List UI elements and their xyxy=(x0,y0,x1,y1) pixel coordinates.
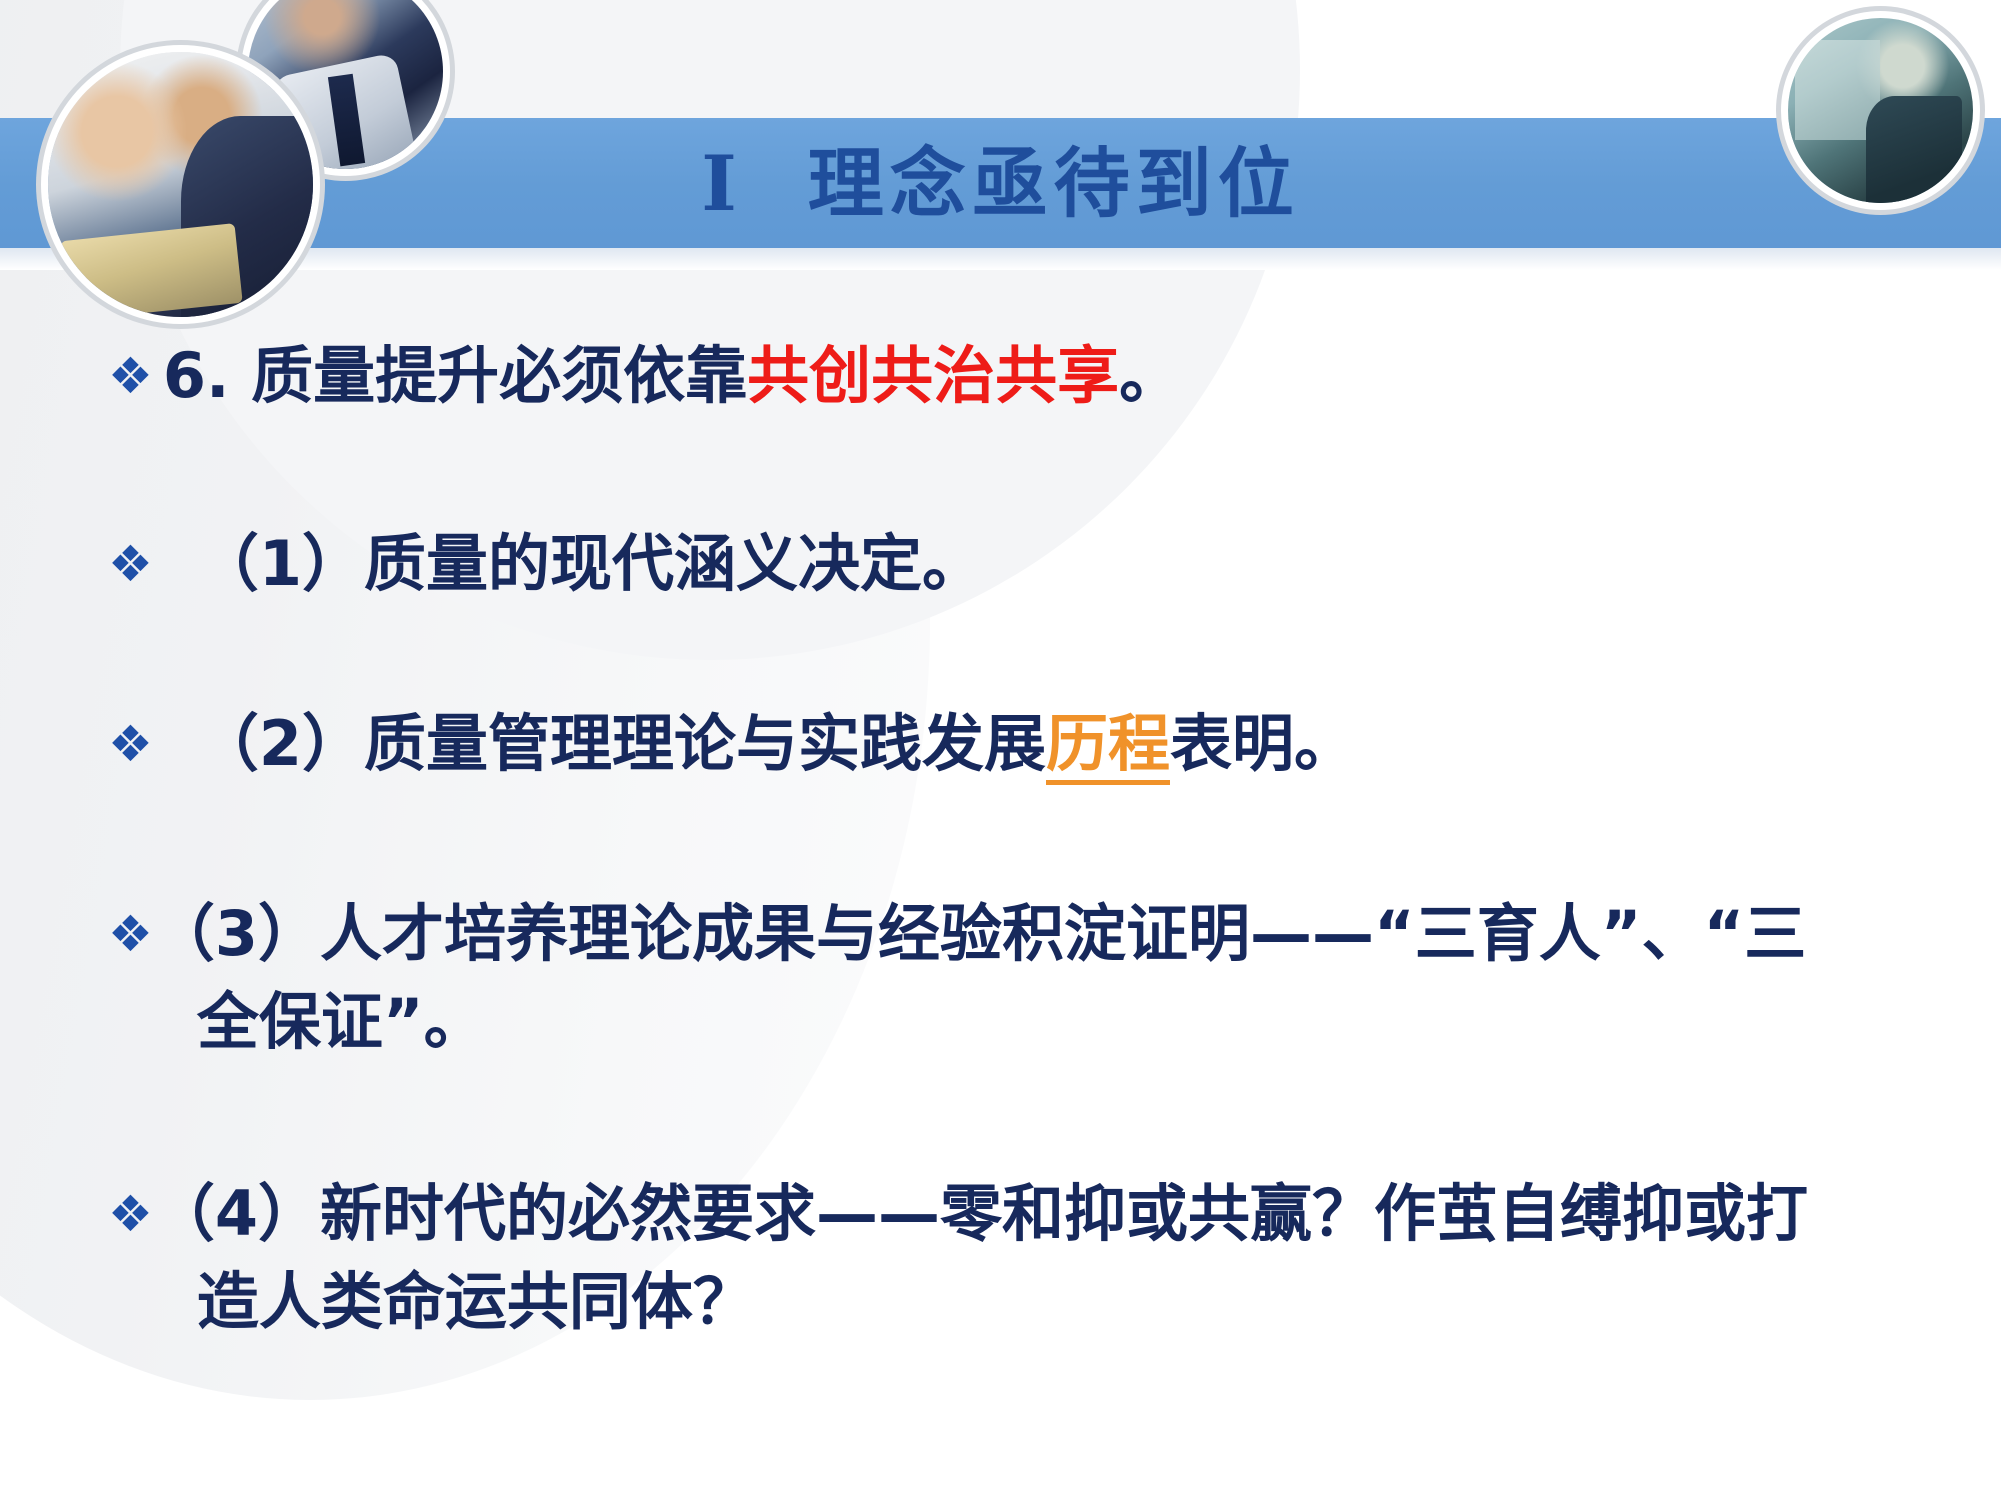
bullet-item-3: ❖ （3）人才培养理论成果与经验积淀证明——“三育人”、“三全保证”。 xyxy=(108,890,1808,1066)
bullet-segment-period: 。 xyxy=(1119,339,1181,412)
diamond-bullet-icon: ❖ xyxy=(108,520,153,608)
bullet-text-2: （2）质量管理理论与实践发展历程表明。 xyxy=(197,700,1928,788)
bullet-segment-highlight-red: 共创共治共享 xyxy=(747,339,1119,412)
diamond-bullet-icon: ❖ xyxy=(108,700,153,788)
bullet-item-6: ❖ 6. 质量提升必须依靠共创共治共享。 xyxy=(108,332,1928,420)
bullet-segment-tail: 表明。 xyxy=(1170,707,1356,780)
diamond-bullet-icon: ❖ xyxy=(108,1170,153,1258)
bullet-segment-plain: 6. 质量提升必须依靠 xyxy=(163,339,747,412)
bullet-text-6: 6. 质量提升必须依靠共创共治共享。 xyxy=(163,332,1928,420)
diamond-bullet-icon: ❖ xyxy=(108,890,153,978)
bullet-text-3: （3）人才培养理论成果与经验积淀证明——“三育人”、“三全保证”。 xyxy=(197,890,1808,1066)
bullet-segment-plain: （2）质量管理理论与实践发展 xyxy=(197,707,1046,780)
bullet-segment-highlight-orange: 历程 xyxy=(1046,707,1170,785)
diamond-bullet-icon: ❖ xyxy=(108,332,153,420)
bullet-item-4: ❖ （4）新时代的必然要求——零和抑或共赢？作茧自缚抑或打造人类命运共同体？ xyxy=(108,1170,1868,1346)
presentation-slide: Ⅰ 理念亟待到位 ❖ 6. 质量提升必须依靠共创共治共享。 ❖ （1）质量的现代… xyxy=(0,0,2001,1501)
bullet-item-2: ❖ （2）质量管理理论与实践发展历程表明。 xyxy=(108,700,1928,788)
bullet-text-4: （4）新时代的必然要求——零和抑或共赢？作茧自缚抑或打造人类命运共同体？ xyxy=(197,1170,1868,1346)
bullet-item-1: ❖ （1）质量的现代涵义决定。 xyxy=(108,520,1928,608)
slide-body: ❖ 6. 质量提升必须依靠共创共治共享。 ❖ （1）质量的现代涵义决定。 ❖ （… xyxy=(0,0,2001,1501)
bullet-text-1: （1）质量的现代涵义决定。 xyxy=(197,520,1928,608)
